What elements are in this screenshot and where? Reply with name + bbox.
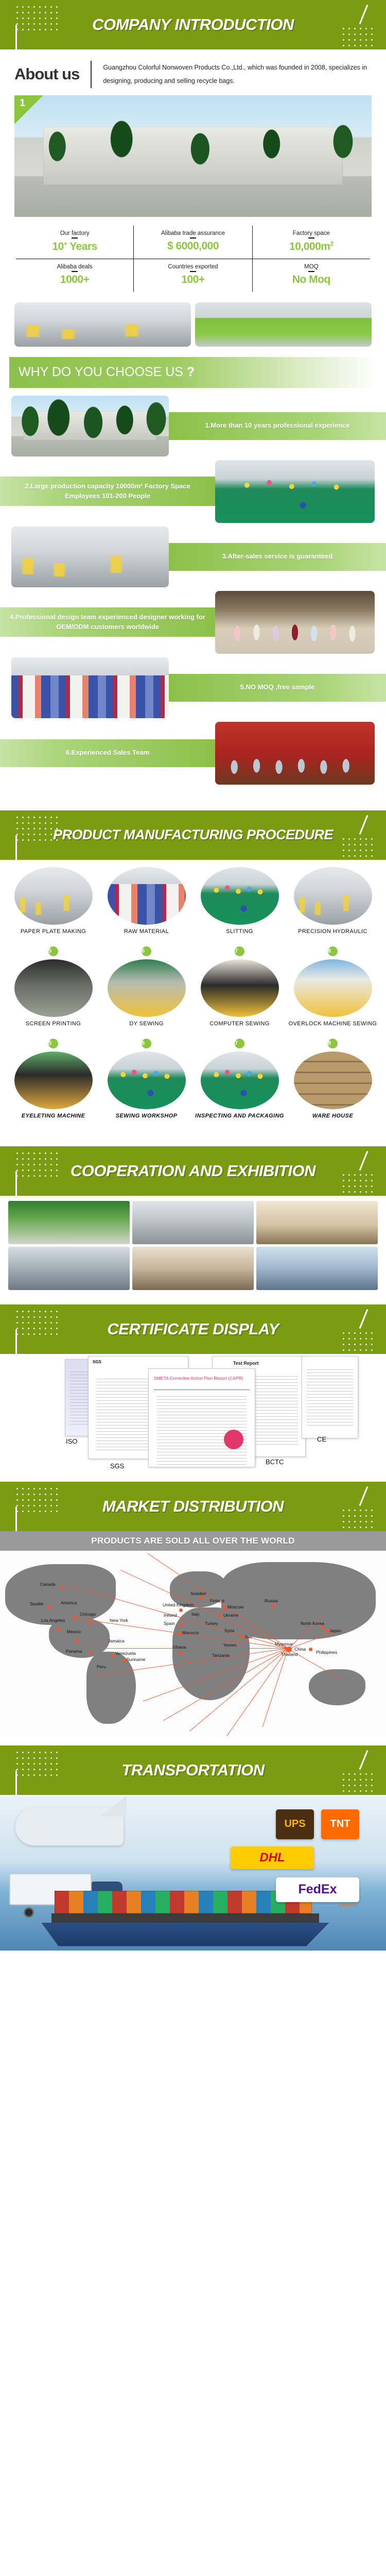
stat-cell-our-factory: Our factory 10+ Years [15,225,134,259]
document-title: SMETA Corrective Action Plan Report (CAP… [154,1375,250,1382]
banner-title: CERTIFICATE DISPLAY [107,1320,278,1338]
cooperation-row-1 [8,1201,378,1244]
why-item-label: 5.NO MOQ ,free sample [169,674,386,702]
company-profile-page: COMPANY INTRODUCTION About us Guangzhou … [0,0,386,1951]
hero-badge-number: 1 [20,97,25,109]
divider [308,271,314,272]
mfg-step-label: OVERLOCK MACHINE SEWING [288,1020,378,1036]
map-label-morocco: Morocco [182,1630,199,1635]
step-number-badge: 6 [142,1039,151,1048]
banner-transportation: TRANSPORTATION [0,1745,386,1795]
document-title: Test Report [233,1361,258,1366]
dot-pattern-left-icon [14,4,58,31]
step-number-badge: 8 [328,946,338,956]
map-label-finland: Finland [210,1598,224,1603]
map-label-ukraine: Ukraine [223,1613,238,1618]
carrier-logo-dhl: DHL [231,1846,314,1869]
why-item-6: 6.Experienced Sales Team [0,722,386,785]
stat-value: 10,000m2 [254,240,369,253]
certificate-ce [302,1356,358,1438]
why-item-label: 4.Professional design team experienced d… [0,607,215,637]
mfg-step-10: SEWING WORKSHOP [101,1052,191,1128]
map-label-chicago: Chicago [80,1612,96,1617]
office-interior-photo [14,302,191,347]
map-label-china: China [294,1647,306,1652]
why-item-2: 2.Large production capacity 10000m² Fact… [0,460,386,523]
map-pin [89,1651,92,1654]
mfg-step-4: PRECISION HYDRAULIC [288,867,378,943]
mfg-step-label: PAPER PLATE MAKING [8,928,98,943]
banner-company-introduction: COMPANY INTRODUCTION [0,0,386,49]
stat-cell-countries-exported: Countries exported 100+ [134,259,252,292]
map-label-moscow: Moscow [227,1604,243,1609]
why-item-4: 4.Professional design team experienced d… [0,591,386,654]
map-label-sweden: Sweden [190,1591,206,1596]
showroom-visit-photo [8,1247,130,1290]
sales-team-photo [215,722,375,785]
dot-pattern-left-icon [14,1150,58,1177]
why-item-3: 3.After-sales service is guaranteed [0,526,386,588]
stat-label: Alibaba trade assurance [135,230,251,236]
why-item-label: 3.After-sales service is guaranteed [169,543,386,571]
map-pin [111,1654,115,1657]
map-label-ghana: Ghana [173,1645,186,1650]
slash-accent-icon [359,1486,369,1505]
document-logo: SGS [93,1360,101,1364]
table-row: Alibaba deals 1000+ Countries exported 1… [15,259,371,292]
mfg-step-9: EYELETING MACHINE [8,1052,98,1128]
landmass-south-america [86,1652,136,1724]
mfg-step-label: COMPUTER SEWING [195,1020,285,1036]
map-label-iran: Iran [245,1634,253,1639]
banner-market-distribution: MARKET DISTRIBUTION [0,1482,386,1531]
map-label-japan: Japan [329,1628,341,1633]
manufacturing-grid-row-3: EYELETING MACHINE SEWING WORKSHOP INSPEC… [8,1052,378,1128]
mfg-step-11: INSPECTING AND PACKAGING [195,1052,285,1128]
banner-title: MARKET DISTRIBUTION [102,1497,284,1516]
mfg-step-label: SCREEN PRINTING [8,1020,98,1036]
landmass-australia [309,1669,365,1705]
map-label-venezuela: Venezuela [115,1651,136,1656]
map-label-seattle: Seattle [30,1601,43,1606]
divider [72,238,78,239]
map-label-mexico: Mexico [67,1629,81,1634]
map-pin [179,1623,183,1626]
map-pin [89,1621,92,1624]
why-item-1: 1.More than 10 years professional experi… [0,395,386,457]
mfg-step-label: DY SEWING [101,1020,191,1036]
vertical-bar-accent-icon [15,1329,17,1354]
map-label-america: America [61,1600,77,1605]
certificate-caption-iso: ISO [66,1437,77,1445]
carrier-logo-fedex: FedEx [276,1877,359,1902]
trade-show-photo [256,1201,378,1244]
raw-material-photo [108,867,186,925]
map-label-united-kingdom: United Kingdom [163,1602,194,1607]
map-pin [309,1648,312,1651]
map-pin [272,1604,275,1608]
mfg-step-8: OVERLOCK MACHINE SEWING [288,959,378,1036]
map-label-los-angeles: Los Angeles [41,1618,65,1623]
stat-label: Factory space [254,230,369,236]
map-pin [48,1605,51,1609]
dot-pattern-right-icon [341,1330,377,1354]
fabric-rolls-photo [11,657,169,718]
fedex-express-label: Express [339,1902,357,1908]
map-subtitle: PRODUCTS ARE SOLD ALL OVER THE WORLD [0,1531,386,1551]
dot-pattern-right-icon [341,1507,377,1531]
step-number-badge: 6 [142,946,151,956]
office-staff-photo [11,527,169,587]
design-team-award-photo [215,591,375,654]
slash-accent-icon [359,1309,369,1328]
expo-stand-photo [256,1247,378,1290]
overlock-machine-sewing-photo [294,959,372,1017]
manufacturing-grid-row-2: SCREEN PRINTING DY SEWING COMPUTER SEWIN… [8,959,378,1036]
company-stats-table: Our factory 10+ Years Alibaba trade assu… [14,224,372,293]
slash-accent-icon [359,1750,369,1769]
banner-title: WHY DO YOU CHOOSE US ? [19,365,195,380]
about-us-text: Guangzhou Colorful Nonwoven Products Co.… [91,61,372,88]
stat-cell-trade-assurance: Alibaba trade assurance $ 6000,000 [134,225,252,259]
banner-why-choose-us: WHY DO YOU CHOOSE US ? [9,357,377,388]
mfg-step-label: SEWING WORKSHOP [101,1112,191,1128]
document-lines [307,1369,354,1427]
client-handshake-photo [132,1247,254,1290]
dot-pattern-left-icon [14,815,58,841]
banner-cooperation-and-exhibition: COOPERATION AND EXHIBITION [0,1146,386,1196]
why-item-5: 5.NO MOQ ,free sample [0,657,386,719]
mfg-step-label: WARE HOUSE [288,1112,378,1128]
vertical-bar-accent-icon [15,1770,17,1795]
divider [190,238,196,239]
dot-pattern-right-icon [341,1771,377,1795]
vertical-bar-accent-icon [15,1171,17,1196]
factory-exterior-photo: 1 [14,95,372,217]
map-pin [200,1596,203,1600]
vertical-bar-accent-icon [15,25,17,49]
mfg-step-12: WARE HOUSE [288,1052,378,1128]
step-number-badge: 8 [328,1039,338,1048]
map-label-russia: Russia [265,1598,278,1603]
mfg-step-label: PRECISION HYDRAULIC [288,928,378,943]
dot-pattern-left-icon [14,1309,58,1335]
sewing-workshop-photo [215,460,375,523]
table-row: Our factory 10+ Years Alibaba trade assu… [15,225,371,259]
map-label-ireland: Ireland [164,1613,177,1618]
map-pin [222,1606,226,1610]
manufacturing-grid-row-1: PAPER PLATE MAKING RAW MATERIAL SLITTING… [8,867,378,943]
banner-title: COOPERATION AND EXHIBITION [71,1162,315,1180]
slitting-photo [201,867,279,925]
map-label-tanzania: Tanzania [212,1653,230,1658]
stat-value: No Moq [254,274,369,286]
map-label-yemen: Yemen [223,1642,237,1648]
mfg-step-3: SLITTING [195,867,285,943]
map-label-panama: Panama [66,1649,82,1654]
step-number-badge: 5 [48,946,58,956]
truck-wheel [24,1907,34,1918]
map-pin [219,1614,222,1617]
sedex-seal-icon [224,1430,243,1449]
slash-accent-icon [359,1150,369,1170]
stat-cell-moq: MOQ No Moq [252,259,371,292]
stat-label: MOQ [254,264,369,270]
why-item-label: 2.Large production capacity 10000m² Fact… [0,477,215,506]
certificate-sedex: SMETA Corrective Action Plan Report (CAP… [148,1368,255,1467]
map-label-myanmar: Myanmar [275,1641,293,1647]
airplane-graphic [15,1807,124,1845]
stat-cell-alibaba-deals: Alibaba deals 1000+ [15,259,134,292]
precision-hydraulic-photo [294,867,372,925]
exhibition-booth-photo [8,1201,130,1244]
corner-badge-shape [14,95,43,124]
mfg-step-6: DY SEWING [101,959,191,1036]
map-pin [61,1586,64,1589]
about-us-label: About us [14,65,91,83]
transportation-illustration: UPS TNT DHL FedEx Express [0,1796,386,1951]
cooperation-row-2 [8,1247,378,1290]
certificate-caption-ce: CE [317,1435,326,1443]
banner-product-manufacturing-procedure: PRODUCT MANUFACTURING PROCEDURE [0,810,386,860]
stat-value: 100+ [135,274,251,286]
map-pin [241,1635,244,1639]
banner-certificate-display: CERTIFICATE DISPLAY [0,1304,386,1354]
eyeleting-machine-photo [14,1052,93,1109]
stat-cell-factory-space: Factory space 10,000m2 [252,225,371,259]
showroom-interior-photo [195,302,372,347]
dot-pattern-right-icon [341,1172,377,1196]
fedex-wordmark: FedEx [298,1882,337,1897]
paper-plate-making-photo [14,867,93,925]
sewing-workshop-photo [108,1052,186,1109]
map-pin [325,1629,329,1633]
shipping-containers [55,1891,312,1913]
stat-value: $ 6000,000 [135,240,251,252]
map-label-philippines: Philippines [316,1650,337,1655]
divider [72,271,78,272]
world-distribution-map: China Canada Seattle America Chicago New… [0,1551,386,1736]
map-label-spain: Spain [164,1621,175,1626]
why-item-label: 1.More than 10 years professional experi… [169,412,386,440]
vertical-bar-accent-icon [15,835,17,860]
map-label-peru: Peru [97,1664,106,1669]
banner-title: COMPANY INTRODUCTION [92,15,294,34]
map-label-north-korea: North Korea [301,1621,324,1626]
step-number-badge: 5 [48,1039,58,1048]
stat-value: 10+ Years [17,240,132,253]
dot-pattern-left-icon [14,1750,58,1776]
dot-pattern-left-icon [14,1486,58,1513]
ship-hull [41,1923,329,1946]
step-number-badge: 7 [235,1039,244,1048]
why-item-label: 6.Experienced Sales Team [0,739,215,767]
certificate-caption-bctc: BCTC [266,1458,284,1466]
divider [154,1389,250,1390]
slash-accent-icon [359,815,369,834]
mfg-step-label: RAW MATERIAL [101,928,191,943]
slash-accent-icon [359,5,369,24]
mfg-step-label: INSPECTING AND PACKAGING [195,1112,285,1128]
banner-title: PRODUCT MANUFACTURING PROCEDURE [53,827,333,843]
mfg-step-label: SLITTING [195,928,285,943]
certificate-caption-sgs: SGS [110,1462,124,1470]
ship-deck [51,1913,319,1923]
inspecting-packaging-photo [201,1052,279,1109]
step-number-badge: 7 [235,946,244,956]
stat-label: Alibaba deals [17,264,132,270]
mfg-step-1: PAPER PLATE MAKING [8,867,98,943]
computer-sewing-photo [201,959,279,1017]
mfg-step-label: EYELETING MACHINE [8,1112,98,1128]
mfg-step-5: SCREEN PRINTING [8,959,98,1036]
map-label-turkey: Turkey [205,1621,218,1626]
map-pin [179,1652,183,1655]
manufacturing-step-numbers-1: 5 6 7 8 [8,944,378,959]
dot-pattern-right-icon [341,836,377,860]
manufacturing-steps: PAPER PLATE MAKING RAW MATERIAL SLITTING… [0,860,386,1131]
map-pin [122,1659,126,1663]
banner-title: TRANSPORTATION [121,1761,264,1780]
divider [308,238,314,239]
vertical-bar-accent-icon [15,1506,17,1531]
stat-label: Our factory [17,230,132,236]
map-pin [178,1632,182,1636]
certificate-gallery: ISO SGS SGS SMETA Corrective Action Plan… [8,1359,378,1467]
map-pin [74,1616,77,1619]
map-label-new-york: New York [110,1618,128,1623]
mfg-step-2: RAW MATERIAL [101,867,191,943]
factory-building-photo [11,396,169,456]
carrier-logo-tnt: TNT [321,1809,359,1839]
map-label-suriname: Suriname [127,1657,145,1662]
customer-meeting-photo [132,1201,254,1244]
mfg-step-7: COMPUTER SEWING [195,959,285,1036]
company-stats-section: Our factory 10+ Years Alibaba trade assu… [0,217,386,298]
map-label-thailand: Thailand [281,1652,298,1657]
map-pin [57,1628,60,1632]
dy-sewing-photo [108,959,186,1017]
map-label-italy: Italy [191,1612,200,1617]
about-us-block: About us Guangzhou Colorful Nonwoven Pro… [0,49,386,95]
cooperation-gallery [0,1196,386,1293]
manufacturing-step-numbers-2: 5 6 7 8 [8,1037,378,1052]
dot-pattern-right-icon [341,26,377,49]
warehouse-photo [294,1052,372,1109]
map-label-canada: Canada [40,1582,56,1587]
map-pin [75,1639,79,1643]
map-label-jamaica: Jamaica [108,1638,125,1643]
carrier-logo-ups: UPS [276,1809,314,1839]
map-label-syria: Syria [224,1628,234,1633]
stat-label: Countries exported [135,264,251,270]
screen-printing-photo [14,959,93,1017]
map-pin [179,1608,183,1612]
stat-value: 1000+ [17,274,132,286]
divider [190,271,196,272]
